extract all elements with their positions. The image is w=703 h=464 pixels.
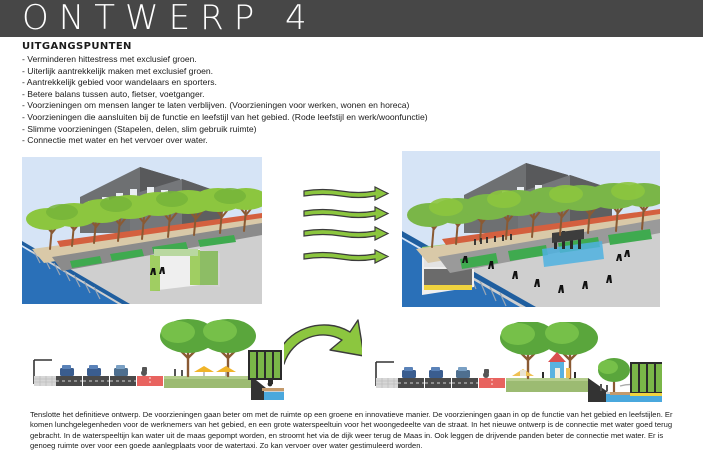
list-item: - Slimme voorzieningen (Stapelen, delen,… (22, 124, 562, 136)
arrow-right-icon (304, 187, 388, 263)
vehicles (402, 367, 470, 378)
list-item: - Voorzieningen om mensen langer te late… (22, 100, 562, 112)
section-right-svg (362, 322, 662, 402)
poster-page: ONTWERP 4 UITGANGSPUNTEN - Verminderen h… (0, 0, 703, 464)
curved-arrow (272, 316, 372, 372)
list-item: - Uiterlijk aantrekkelijk maken met excl… (22, 66, 562, 78)
green-wall-building (630, 362, 662, 396)
road-bays (56, 376, 136, 386)
sidewalk (34, 376, 56, 386)
before-render-image (22, 157, 262, 304)
after-render-image (402, 151, 660, 307)
transition-arrows (303, 186, 395, 272)
uitgangspunten-list: - Verminderen hittestress met exclusief … (22, 54, 562, 147)
uitgangspunten-block: UITGANGSPUNTEN - Verminderen hittestress… (22, 41, 562, 147)
section-left-svg (16, 316, 284, 400)
list-item: - Connectie met water en het vervoer ove… (22, 135, 562, 147)
page-title: ONTWERP 4 (22, 0, 317, 37)
sidewalk (376, 378, 398, 388)
green-wall-block (248, 350, 282, 380)
page-header: ONTWERP 4 (0, 0, 703, 37)
uitgangspunten-heading: UITGANGSPUNTEN (22, 41, 562, 52)
vehicles (60, 365, 128, 376)
list-item: - Betere balans tussen auto, fietser, vo… (22, 89, 562, 101)
conclusion-text: Tenslotte het definitieve ontwerp. De vo… (30, 410, 678, 452)
section-left-drawing (16, 316, 284, 400)
list-item: - Verminderen hittestress met exclusief … (22, 54, 562, 66)
curved-arrow-svg (272, 316, 372, 372)
list-item: - Aantrekkelijk gebied voor wandelaars e… (22, 77, 562, 89)
list-item: - Voorzieningen die aansluiten bij de fu… (22, 112, 562, 124)
section-right-drawing (362, 322, 662, 402)
transition-arrows-svg (303, 186, 395, 272)
before-render-svg (22, 157, 262, 304)
after-render-svg (402, 151, 660, 307)
water (264, 392, 284, 400)
road-bays (398, 378, 478, 388)
conclusion-paragraph: Tenslotte het definitieve ontwerp. De vo… (30, 410, 678, 452)
